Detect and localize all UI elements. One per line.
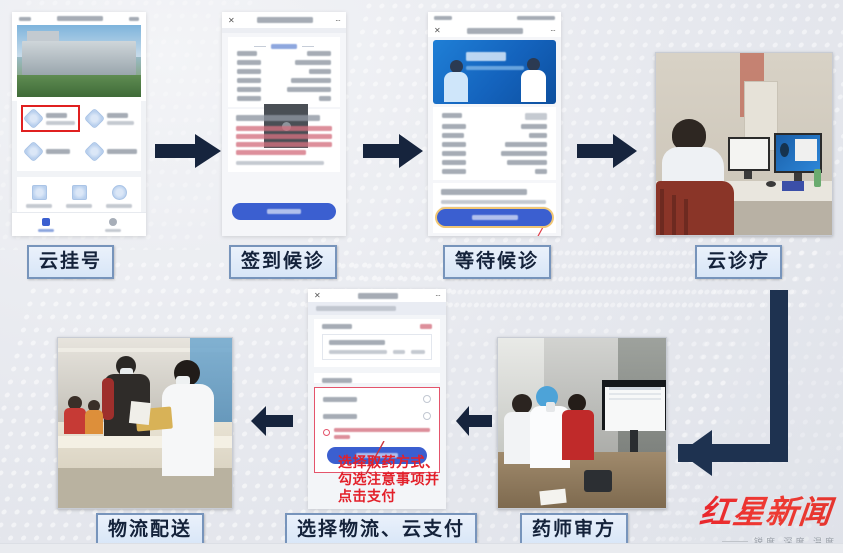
order-number-row <box>308 302 446 315</box>
phone-screenshot-waiting: ✕ ··· <box>428 12 561 236</box>
service-tile-consult[interactable] <box>84 107 140 130</box>
records-icon <box>72 185 87 200</box>
radio-icon[interactable] <box>423 412 431 420</box>
tabbar-home[interactable] <box>12 213 79 236</box>
phone3-nav-bar: ✕ ··· <box>428 24 561 37</box>
info-row <box>228 94 340 103</box>
info-row <box>433 167 556 176</box>
option-logistics-delivery[interactable] <box>323 412 431 420</box>
checkbox-icon[interactable] <box>323 429 330 436</box>
info-row <box>228 85 340 94</box>
photo-cloud-consult <box>655 52 833 236</box>
phone1-status-bar <box>12 12 146 25</box>
flow-arrow-5 <box>456 406 492 436</box>
quick-link-orders[interactable] <box>21 185 57 208</box>
flow-arrow-1 <box>155 134 221 168</box>
option-hospital-pickup[interactable] <box>323 395 431 403</box>
profile-icon <box>109 218 117 226</box>
info-row <box>228 67 340 76</box>
close-icon[interactable]: ✕ <box>314 291 321 300</box>
step-label-7: 物流配送 <box>96 513 204 547</box>
quick-link-health-file[interactable] <box>101 185 137 208</box>
consult-icon <box>84 108 105 129</box>
agreement-row[interactable] <box>323 428 431 439</box>
radio-icon[interactable] <box>423 395 431 403</box>
tabbar-profile[interactable] <box>79 213 146 236</box>
hospital-banner-image <box>17 25 141 97</box>
info-row <box>433 149 556 158</box>
step-label-6: 选择物流、云支付 <box>285 513 477 547</box>
flow-arrow-elbow <box>678 290 788 480</box>
phone4-nav-bar: ✕ ··· <box>308 289 446 302</box>
info-row <box>433 131 556 140</box>
info-row <box>228 58 340 67</box>
info-row <box>433 158 556 167</box>
infographic-canvas: 云挂号 ✕ ··· <box>0 0 843 553</box>
photo-delivery <box>57 337 233 509</box>
flow-arrow-3 <box>577 134 637 168</box>
rx-item <box>322 334 432 360</box>
phone2-nav-bar: ✕ ··· <box>222 12 346 28</box>
tagline-rule-left <box>722 541 748 542</box>
phone-screenshot-checkin: ✕ ··· <box>222 12 346 236</box>
payment-annotation: 选择取药方式、 勾选注意事项并 点击支付 <box>338 455 440 506</box>
phone-screenshot-registration <box>12 12 146 236</box>
report-icon <box>23 141 44 162</box>
more-icon[interactable]: ··· <box>435 291 440 300</box>
bottom-bar <box>0 543 843 553</box>
info-row <box>433 111 556 122</box>
payment-icon <box>84 141 105 162</box>
brand-logo: 红星新闻 锐度 深度 温度 <box>700 487 843 548</box>
brand-logo-text: 红星新闻 <box>698 487 843 533</box>
close-icon[interactable]: ✕ <box>434 26 441 35</box>
flow-arrow-6 <box>251 406 293 436</box>
service-tile-report[interactable] <box>23 140 78 163</box>
service-tile-registration[interactable] <box>23 107 78 130</box>
info-row <box>228 49 340 58</box>
health-file-icon <box>112 185 127 200</box>
more-icon[interactable]: ··· <box>335 16 340 25</box>
info-row <box>228 76 340 85</box>
home-icon <box>42 218 50 226</box>
info-row <box>433 140 556 149</box>
step-label-1: 云挂号 <box>27 245 114 279</box>
quick-link-records[interactable] <box>61 185 97 208</box>
step-label-2: 签到候诊 <box>229 245 337 279</box>
step-label-4: 云诊疗 <box>695 245 782 279</box>
checkin-primary-button[interactable] <box>232 203 336 220</box>
rx-section-header <box>322 324 432 329</box>
enter-queue-button[interactable] <box>437 209 552 226</box>
info-row <box>433 122 556 131</box>
close-icon[interactable]: ✕ <box>228 16 235 25</box>
orders-icon <box>32 185 47 200</box>
more-icon[interactable]: ··· <box>550 26 555 35</box>
registration-icon <box>23 108 44 129</box>
step-label-3: 等待候诊 <box>443 245 551 279</box>
flow-arrow-2 <box>363 134 423 168</box>
photo-pharmacist <box>497 337 667 509</box>
step-label-5: 药师审方 <box>520 513 628 547</box>
consulting-banner <box>433 40 556 104</box>
service-tile-payment[interactable] <box>84 140 140 163</box>
